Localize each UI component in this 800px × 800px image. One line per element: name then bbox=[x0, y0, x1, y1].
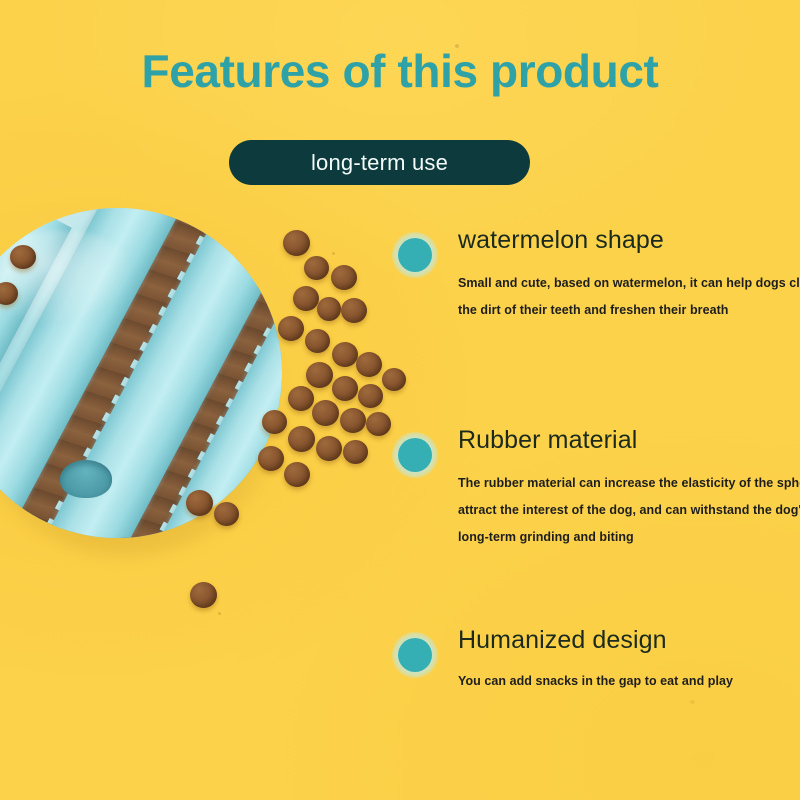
bullet-dot-icon bbox=[398, 638, 432, 672]
kibble-pellet bbox=[305, 329, 330, 353]
feature-heading: Humanized design bbox=[458, 626, 667, 655]
feature-description: You can add snacks in the gap to eat and… bbox=[458, 668, 800, 695]
kibble-pellet bbox=[340, 408, 366, 433]
kibble-pellet bbox=[262, 410, 287, 434]
kibble-pellet bbox=[304, 256, 329, 280]
kibble-pellet bbox=[332, 342, 358, 367]
ball-body bbox=[0, 208, 282, 538]
kibble-pellet bbox=[312, 400, 339, 426]
kibble-pellet bbox=[278, 316, 304, 341]
kibble-pellet bbox=[10, 245, 36, 269]
kibble-pellet bbox=[214, 502, 239, 526]
kibble-pellet bbox=[332, 376, 358, 401]
feature-description-line: long-term grinding and biting bbox=[458, 524, 800, 551]
kibble-pellet bbox=[284, 462, 310, 487]
kibble-pellet bbox=[293, 286, 319, 311]
kibble-pellet bbox=[186, 490, 213, 516]
bullet-dot-icon bbox=[398, 238, 432, 272]
feature-description-line: The rubber material can increase the ela… bbox=[458, 470, 800, 497]
kibble-pellet bbox=[341, 298, 367, 323]
status-badge-label: long-term use bbox=[311, 150, 448, 176]
kibble-pellet bbox=[258, 446, 284, 471]
background-speck bbox=[690, 700, 695, 704]
bullet-dot-icon bbox=[398, 438, 432, 472]
kibble-pellet bbox=[283, 230, 310, 256]
status-badge: long-term use bbox=[229, 140, 530, 185]
chew-ball bbox=[0, 208, 292, 548]
kibble-pellet bbox=[366, 412, 391, 436]
ball-treat-hole bbox=[60, 460, 112, 498]
kibble-pellet bbox=[190, 582, 217, 608]
feature-description: Small and cute, based on watermelon, it … bbox=[458, 270, 800, 324]
page-title: Features of this product bbox=[0, 44, 800, 98]
kibble-pellet bbox=[382, 368, 406, 391]
kibble-pellet bbox=[331, 265, 357, 290]
product-feature-infographic: Features of this product long-term use bbox=[0, 0, 800, 800]
kibble-pellet bbox=[288, 386, 314, 411]
kibble-pellet bbox=[317, 297, 341, 321]
feature-heading: watermelon shape bbox=[458, 226, 664, 255]
kibble-pellet bbox=[306, 362, 333, 388]
feature-description-line: the dirt of their teeth and freshen thei… bbox=[458, 297, 800, 324]
feature-description-line: Small and cute, based on watermelon, it … bbox=[458, 270, 800, 297]
kibble-pellet bbox=[316, 436, 342, 461]
feature-description-line: attract the interest of the dog, and can… bbox=[458, 497, 800, 524]
feature-description: The rubber material can increase the ela… bbox=[458, 470, 800, 551]
kibble-pellet bbox=[343, 440, 368, 464]
feature-description-line: You can add snacks in the gap to eat and… bbox=[458, 668, 800, 695]
kibble-pellet bbox=[288, 426, 315, 452]
feature-heading: Rubber material bbox=[458, 426, 637, 455]
product-photo bbox=[0, 190, 430, 620]
kibble-pellet bbox=[358, 384, 383, 408]
kibble-pellet bbox=[356, 352, 382, 377]
